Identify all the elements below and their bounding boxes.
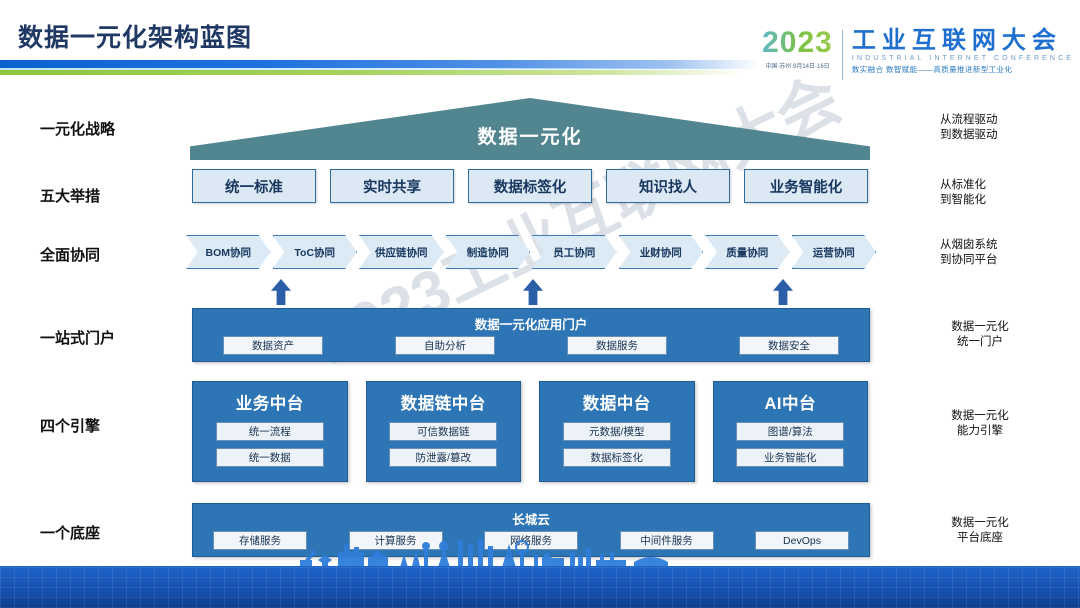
engine-title: 业务中台 <box>236 390 304 414</box>
chevron-item[interactable]: 制造协同 <box>446 235 531 269</box>
up-arrow-icon <box>271 279 291 305</box>
engines-row: 业务中台 统一流程 统一数据 数据链中台 可信数据链 防泄露/篡改 数据中台 元… <box>192 381 868 482</box>
row-note-engines: 数据一元化 能力引擎 <box>940 409 1020 439</box>
row-note-engines-line2: 能力引擎 <box>940 424 1020 439</box>
portal-chip[interactable]: 自助分析 <box>395 336 495 355</box>
engine-card[interactable]: AI中台 图谱/算法 业务智能化 <box>713 381 869 482</box>
row-note-collaboration-line1: 从烟囱系统 <box>940 238 998 253</box>
row-note-measures-line1: 从标准化 <box>940 178 986 193</box>
logo-name-cn: 工业互联网大会 <box>852 28 1074 53</box>
roof-strategy-banner: 数据一元化 <box>190 98 870 160</box>
conference-logo: 2023 中国·苏州 9月14日-16日 工业互联网大会 INDUSTRIAL … <box>762 28 1074 82</box>
measures-row: 统一标准 实时共享 数据标签化 知识找人 业务智能化 <box>192 169 868 203</box>
engine-card[interactable]: 数据链中台 可信数据链 防泄露/篡改 <box>366 381 522 482</box>
portal-title: 数据一元化应用门户 <box>193 314 869 333</box>
measure-box[interactable]: 统一标准 <box>192 169 316 203</box>
roof-label: 数据一元化 <box>190 122 870 149</box>
logo-divider <box>842 30 843 80</box>
engine-card[interactable]: 业务中台 统一流程 统一数据 <box>192 381 348 482</box>
engine-title: 数据中台 <box>583 390 651 414</box>
logo-year: 2023 <box>762 28 833 58</box>
row-note-measures-line2: 到智能化 <box>940 193 986 208</box>
engine-title: AI中台 <box>765 390 817 414</box>
up-arrow-shape <box>523 279 543 305</box>
engine-chip[interactable]: 统一数据 <box>216 448 324 467</box>
portal-band: 数据一元化应用门户 数据资产 自助分析 数据服务 数据安全 <box>192 308 870 362</box>
chevron-item[interactable]: 供应链协同 <box>359 235 444 269</box>
chevron-item[interactable]: 业财协同 <box>619 235 704 269</box>
logo-text-block: 工业互联网大会 INDUSTRIAL INTERNET CONFERENCE 数… <box>852 28 1074 75</box>
engine-chip[interactable]: 数据标签化 <box>563 448 671 467</box>
footer-grid-pattern <box>0 566 1080 608</box>
engine-chip[interactable]: 可信数据链 <box>389 422 497 441</box>
row-note-strategy-line2: 到数据驱动 <box>940 128 998 143</box>
measure-box[interactable]: 知识找人 <box>606 169 730 203</box>
measure-box[interactable]: 业务智能化 <box>744 169 868 203</box>
chevron-item[interactable]: 员工协同 <box>532 235 617 269</box>
slide-canvas: 数据一元化架构蓝图 2023 中国·苏州 9月14日-16日 工业互联网大会 I… <box>0 0 1080 608</box>
portal-chip[interactable]: 数据资产 <box>223 336 323 355</box>
portal-chip[interactable]: 数据安全 <box>739 336 839 355</box>
row-label-strategy: 一元化战略 <box>40 118 115 139</box>
chevron-item[interactable]: BOM协同 <box>186 235 271 269</box>
up-arrow-shape <box>271 279 291 305</box>
measure-box[interactable]: 数据标签化 <box>468 169 592 203</box>
engine-chip[interactable]: 业务智能化 <box>736 448 844 467</box>
engine-chip[interactable]: 元数据/模型 <box>563 422 671 441</box>
engine-chip[interactable]: 统一流程 <box>216 422 324 441</box>
chevron-item[interactable]: 运营协同 <box>792 235 877 269</box>
row-note-measures: 从标准化 到智能化 <box>940 178 986 208</box>
collaboration-chevron-row: BOM协同 ToC协同 供应链协同 制造协同 员工协同 业财协同 质量协同 运营… <box>186 235 876 269</box>
row-note-portal: 数据一元化 统一门户 <box>940 320 1020 350</box>
row-note-strategy-line1: 从流程驱动 <box>940 113 998 128</box>
portal-chip[interactable]: 数据服务 <box>567 336 667 355</box>
foundation-title: 长城云 <box>193 509 869 528</box>
engine-chip[interactable]: 图谱/算法 <box>736 422 844 441</box>
row-note-foundation-line1: 数据一元化 <box>940 516 1020 531</box>
row-label-portal: 一站式门户 <box>40 327 115 348</box>
row-label-engines: 四个引擎 <box>40 415 100 436</box>
logo-date: 中国·苏州 9月14日-16日 <box>762 61 833 70</box>
measure-box[interactable]: 实时共享 <box>330 169 454 203</box>
engine-chip[interactable]: 防泄露/篡改 <box>389 448 497 467</box>
chevron-item[interactable]: ToC协同 <box>273 235 358 269</box>
logo-tagline: 数实融合 数智赋能——高质量推进新型工业化 <box>852 64 1074 75</box>
up-arrow-shape <box>773 279 793 305</box>
engine-card[interactable]: 数据中台 元数据/模型 数据标签化 <box>539 381 695 482</box>
header-accent-bar-green <box>0 70 745 75</box>
up-arrow-icon <box>523 279 543 305</box>
row-label-collaboration: 全面协同 <box>40 244 100 265</box>
chevron-item[interactable]: 质量协同 <box>705 235 790 269</box>
row-note-engines-line1: 数据一元化 <box>940 409 1020 424</box>
row-note-collaboration-line2: 到协同平台 <box>940 253 998 268</box>
row-note-portal-line2: 统一门户 <box>940 335 1020 350</box>
portal-items: 数据资产 自助分析 数据服务 数据安全 <box>223 336 839 355</box>
row-label-measures: 五大举措 <box>40 185 100 206</box>
footer-band <box>0 566 1080 608</box>
up-arrow-icon <box>773 279 793 305</box>
logo-year-block: 2023 中国·苏州 9月14日-16日 <box>762 28 842 70</box>
row-note-collaboration: 从烟囱系统 到协同平台 <box>940 238 998 268</box>
row-note-portal-line1: 数据一元化 <box>940 320 1020 335</box>
logo-name-en: INDUSTRIAL INTERNET CONFERENCE <box>852 55 1074 62</box>
row-note-strategy: 从流程驱动 到数据驱动 <box>940 113 998 143</box>
engine-title: 数据链中台 <box>401 390 486 414</box>
page-title: 数据一元化架构蓝图 <box>18 18 252 54</box>
